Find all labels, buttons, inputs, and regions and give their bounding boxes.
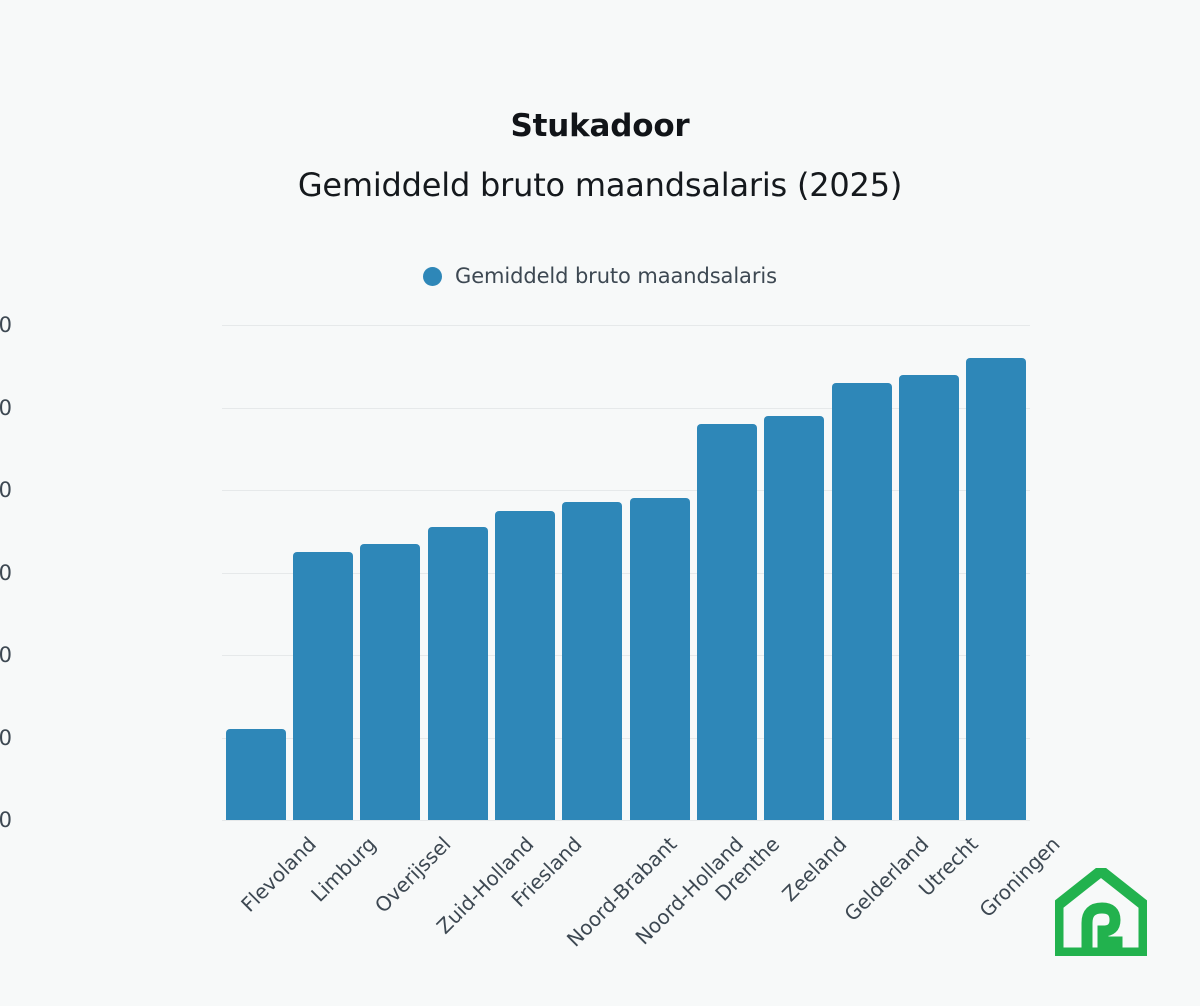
circle-marker-icon <box>423 267 442 286</box>
bar[interactable] <box>293 552 353 820</box>
bar[interactable] <box>832 383 892 820</box>
x-axis-label-slot: Limburg <box>289 820 356 950</box>
y-axis-tick-label: 2800 <box>0 478 12 502</box>
bar-slot <box>289 325 356 820</box>
y-axis-tick-label: 2600 <box>0 643 12 667</box>
x-axis-label-slot: Flevoland <box>222 820 289 950</box>
y-axis-tick-label: 3000 <box>0 313 12 337</box>
y-axis-tick-label: 2400 <box>0 808 12 832</box>
y-axis-tick-label: 2900 <box>0 396 12 420</box>
bar-slot <box>693 325 760 820</box>
bar[interactable] <box>495 511 555 820</box>
x-axis-label-slot: Drenthe <box>693 820 760 950</box>
bar[interactable] <box>428 527 488 820</box>
bar-slot <box>424 325 491 820</box>
bar[interactable] <box>966 358 1026 820</box>
bar-series <box>222 325 1030 820</box>
bar-slot <box>761 325 828 820</box>
bar-slot <box>222 325 289 820</box>
house-logo-icon <box>1055 868 1147 956</box>
bar[interactable] <box>630 498 690 820</box>
x-axis-label-slot: Noord-Brabant <box>559 820 626 950</box>
chart-legend: Gemiddeld bruto maandsalaris <box>0 264 1200 288</box>
bar[interactable] <box>360 544 420 820</box>
x-axis-label-slot: Utrecht <box>895 820 962 950</box>
bar[interactable] <box>226 729 286 820</box>
x-axis-label-slot: Overijssel <box>357 820 424 950</box>
bar[interactable] <box>899 375 959 821</box>
x-axis-labels: FlevolandLimburgOverijsselZuid-HollandFr… <box>222 820 1030 950</box>
x-axis-label-slot: Noord-Holland <box>626 820 693 950</box>
y-axis-tick-label: 2500 <box>0 726 12 750</box>
bar[interactable] <box>562 502 622 820</box>
page-title: Stukadoor <box>0 108 1200 144</box>
x-axis-label-slot: Gelderland <box>828 820 895 950</box>
bar-slot <box>895 325 962 820</box>
bar-slot <box>357 325 424 820</box>
chart-plot-area: 2400250026002700280029003000 <box>222 325 1030 820</box>
x-axis-label-slot: Zuid-Holland <box>424 820 491 950</box>
y-axis-tick-label: 2700 <box>0 561 12 585</box>
bar-slot <box>491 325 558 820</box>
bar-slot <box>963 325 1030 820</box>
x-axis-label-slot: Groningen <box>963 820 1030 950</box>
bar-slot <box>828 325 895 820</box>
bar-slot <box>626 325 693 820</box>
x-axis-label-slot: Friesland <box>491 820 558 950</box>
bar[interactable] <box>764 416 824 820</box>
chart-subtitle: Gemiddeld bruto maandsalaris (2025) <box>0 166 1200 204</box>
legend-item-label: Gemiddeld bruto maandsalaris <box>455 264 777 288</box>
bar[interactable] <box>697 424 757 820</box>
x-axis-label-slot: Zeeland <box>761 820 828 950</box>
x-axis-tick-label: Groningen <box>975 832 1065 922</box>
bar-slot <box>559 325 626 820</box>
